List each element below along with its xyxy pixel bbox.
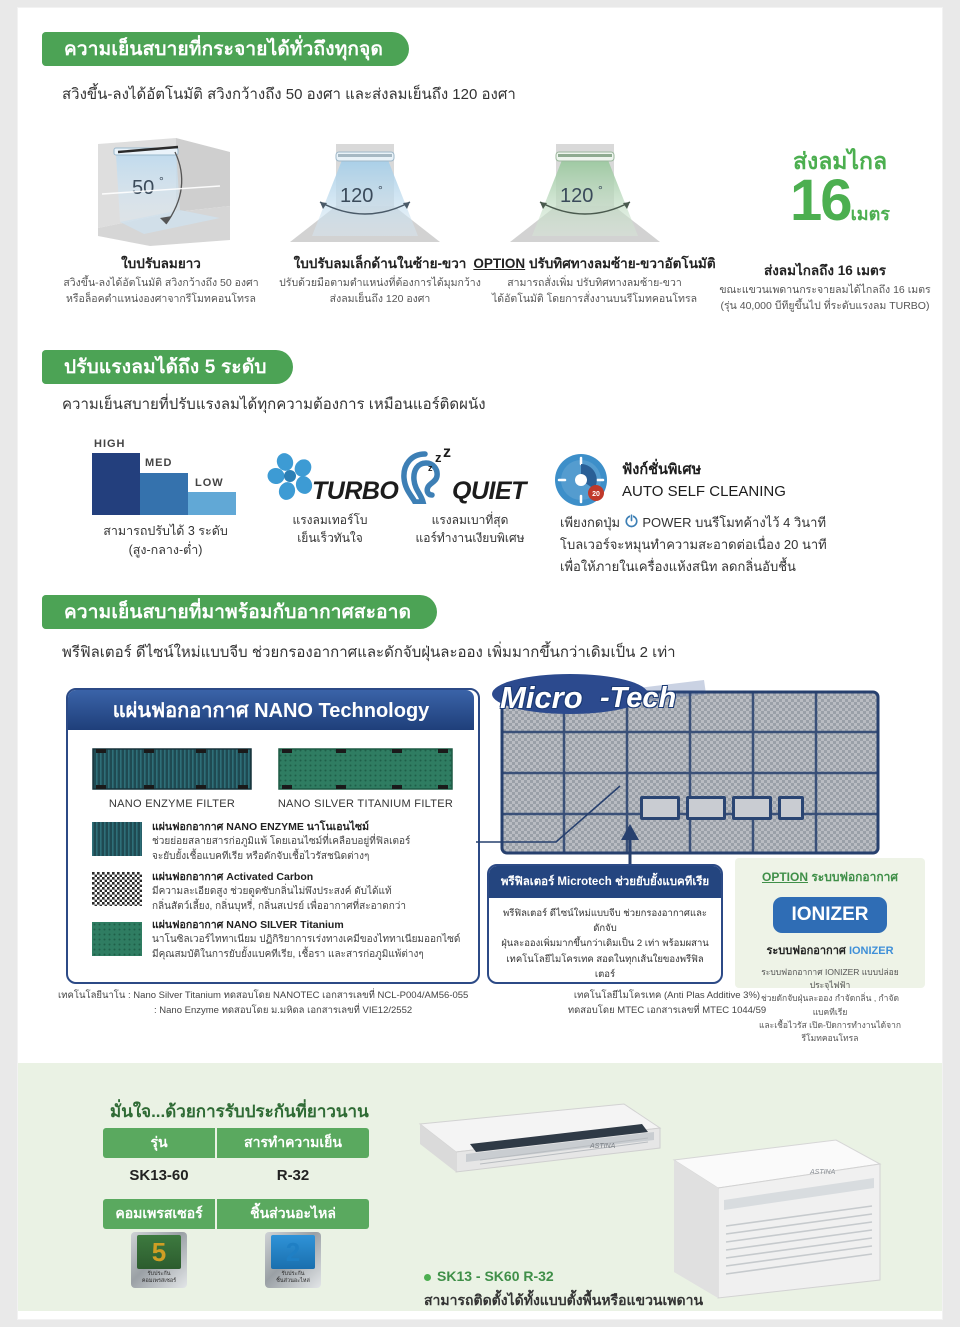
svg-text:120: 120 (340, 185, 373, 207)
ionizer-desc-1: ระบบฟอกอากาศ IONIZER แบบปล่อยประจุไฟฟ้า (761, 967, 899, 990)
ionizer-badge[interactable]: IONIZER (773, 897, 886, 933)
swatch-activated-carbon (92, 872, 142, 911)
table-divider (215, 1128, 217, 1258)
quiet-desc-2: แอร์ทำงานเงียบพิเศษ (416, 531, 525, 545)
footnote-right-1: เทคโนโลยีไมโครเทค (Anti Plas Additive 3%… (502, 988, 832, 1003)
table-header-model: รุ่น (103, 1128, 215, 1158)
panel-desc-1: ปรับด้วยมือตามตำแหน่งที่ต้องการได้มุมกว้… (279, 277, 481, 289)
svg-text:ASTINA: ASTINA (809, 1169, 836, 1176)
selfclean-title-th: ฟังก์ชั่นพิเศษ (622, 458, 786, 481)
microtech-callout-header: พรีฟิลเตอร์ Microtech ช่วยยับยั้งแบคทีเร… (489, 866, 721, 898)
bullet-dot-icon (424, 1274, 431, 1281)
section-header-airflow: ความเย็นสบายที่กระจายได้ทั่วถึงทุกจุด (42, 32, 409, 66)
fanspeed-subtitle: ความเย็นสบายที่ปรับแรงลมได้ทุกความต้องกา… (62, 392, 486, 416)
table-header-refrigerant: สารทำความเย็น (217, 1128, 369, 1158)
distance-number-row: 16เมตร (740, 173, 940, 228)
ionizer-desc-3: และเชื้อไวรัส เปิด-ปิดการทำงานได้จากรีโม… (759, 1020, 901, 1043)
ionizer-option-label: OPTION ระบบฟอกอากาศ (735, 858, 925, 887)
panel-desc-1: สามารถสั่งเพิ่ม ปรับทิศทางลมซ้าย-ขวา (507, 277, 682, 289)
chart-caption-2: (สูง-กลาง-ต่ำ) (58, 542, 273, 559)
panel-desc-1: สวิงขึ้น-ลงได้อัตโนมัติ สวิงกว้างถึง 50 … (63, 277, 258, 289)
distance-16m-block: ส่งลมไกล 16เมตร (740, 150, 940, 228)
bullet-line-2: กลิ่นสัตว์เลี้ยง, กลิ่นบุหรี่, กลิ่นสเปร… (152, 900, 462, 915)
callout-line-2: ฝุ่นละอองเพิ่มมากขึ้นกว่าเดิมเป็น 2 เท่า… (501, 938, 709, 949)
callout-arrow-up (600, 820, 660, 870)
bullet-nano-silver: แผ่นฟอกอากาศ NANO SILVER Titanium นาโนซิ… (152, 918, 472, 962)
svg-text:°: ° (159, 174, 164, 188)
selfclean-title-en: AUTO SELF CLEANING (622, 483, 786, 500)
ionizer-subtitle: ระบบฟอกอากาศ IONIZER (735, 941, 925, 959)
brochure-page: ความเย็นสบายที่กระจายได้ทั่วถึงทุกจุด สว… (0, 0, 960, 1327)
bar-high (92, 453, 140, 515)
power-icon (624, 513, 639, 534)
bar-label-high: HIGH (94, 438, 126, 450)
page-edge-left (0, 0, 18, 1327)
distance-number: 16 (790, 168, 851, 233)
bar-label-med: MED (145, 457, 172, 469)
badge-line-1: รับประกัน (148, 1271, 171, 1277)
bar-med (140, 473, 188, 515)
panel-desc-1: ขณะแขวนเพดานกระจายลมได้ไกลถึง 16 เมตร (719, 284, 930, 296)
table-value-refrigerant: R-32 (217, 1158, 369, 1192)
cleanair-subtitle: พรีฟิลเตอร์ ดีไซน์ใหม่แบบจีบ ช่วยกรองอาก… (62, 640, 676, 664)
badge-line-2: ชิ้นส่วนอะไหล่ (276, 1278, 310, 1284)
badge-line-1: รับประกัน (282, 1271, 305, 1277)
illustration-vane-120-green: 120 ° (510, 140, 660, 253)
quiet-caption: แรงลมเบาที่สุด แอร์ทำงานเงียบพิเศษ (385, 508, 555, 547)
badge-line-2: คอมเพรสเซอร์ (142, 1278, 176, 1284)
bar-low (188, 492, 236, 515)
bullet-line-2: จะยับยั้งเชื้อแบคทีเรีย หรือดักจับเชื้อไ… (152, 850, 452, 865)
turbo-desc-1: แรงลมเทอร์โบ (292, 513, 367, 527)
badge-year-number: 5 (152, 1239, 166, 1265)
svg-text:z: z (428, 463, 433, 473)
panel-desc-2: ส่งลมเย็นถึง 120 องศา (330, 293, 431, 305)
panel-desc-2: หรือล็อคตำแหน่งองศาจากรีโมทคอนโทรล (66, 293, 256, 305)
swatch-nano-enzyme (92, 822, 142, 861)
page-edge-bottom (0, 1319, 960, 1327)
svg-text:ASTINA: ASTINA (589, 1143, 616, 1150)
option-underline: OPTION (762, 870, 808, 884)
panel-caption-swing-50: ใบปรับลมยาว สวิงขึ้น-ลงได้อัตโนมัติ สวิง… (36, 255, 286, 308)
filter-image-nano-silver (278, 748, 453, 795)
model-range-label: SK13 - SK60 R-32 (424, 1268, 554, 1284)
quiet-wordmark: QUIET (452, 477, 526, 506)
selfclean-line3: เพื่อให้ภายในเครื่องแห้งสนิท ลดกลิ่นอับช… (560, 556, 827, 577)
clock-badge-number: 20 (592, 491, 600, 498)
quiet-ear-icon: z z z (395, 448, 457, 509)
svg-text:120: 120 (560, 185, 593, 207)
footnote-right: เทคโนโลยีไมโครเทค (Anti Plas Additive 3%… (502, 988, 832, 1018)
clock-timer-icon: 20 (553, 452, 609, 513)
chart-caption-1: สามารถปรับได้ 3 ระดับ (58, 523, 273, 540)
panel-desc-2: (รุ่น 40,000 บีทียูขึ้นไป ที่ระดับแรงลม … (721, 300, 930, 312)
chart-caption: สามารถปรับได้ 3 ระดับ (สูง-กลาง-ต่ำ) (58, 523, 273, 559)
selfclean-line2: โบลเวอร์จะหมุนทำความสะอาดต่อเนื่อง 20 นา… (560, 534, 827, 555)
bullet-nano-enzyme: แผ่นฟอกอากาศ NANO ENZYME นาโนเอนไซม์ ช่ว… (152, 820, 452, 864)
bar-label-low: LOW (195, 477, 224, 489)
bullet-line-2: มีคุณสมบัติในการยับยั้งแบคทีเรีย, เชื้อร… (152, 948, 472, 963)
bullet-line-1: ช่วยย่อยสลายสารก่อภูมิแพ้ โดยเอนไซม์ที่เ… (152, 835, 452, 850)
illustration-vane-120-blue: 120 ° (290, 140, 440, 253)
selfclean-line1b: POWER บนรีโมทค้างไว้ 4 วินาที (642, 515, 826, 530)
footnote-right-2: ทดสอบโดย MTEC เอกสารเลขที่ MTEC 1044/59 (502, 1003, 832, 1018)
illustration-swing-50: 50 ° (80, 136, 240, 251)
selfclean-line1a: เพียงกดปุ่ม (560, 515, 620, 530)
distance-unit: เมตร (851, 204, 890, 224)
footnote-left: เทคโนโลยีนาโน : Nano Silver Titanium ทดส… (58, 988, 468, 1018)
svg-text:°: ° (378, 183, 383, 197)
panel-caption-option-auto: OPTION ปรับทิศทางลมซ้าย-ขวาอัตโนมัติ สาม… (462, 255, 727, 308)
quiet-desc-1: แรงลมเบาที่สุด (432, 513, 509, 527)
option-underline: OPTION (473, 256, 525, 271)
svg-text:z: z (435, 450, 442, 465)
warranty-title: มั่นใจ...ด้วยการรับประกันที่ยาวนาน (110, 1098, 369, 1125)
callout-line-3: เทคโนโลยีไมโครเทค สอดในทุกเส้นใยของพรีฟิ… (506, 954, 703, 980)
bullet-title: แผ่นฟอกอากาศ NANO ENZYME นาโนเอนไซม์ (152, 820, 452, 835)
page-edge-right (942, 0, 960, 1327)
svg-text:z: z (443, 448, 451, 461)
selfclean-instructions: เพียงกดปุ่ม POWER บนรีโมทค้างไว้ 4 วินาท… (560, 512, 827, 577)
filter-image-nano-enzyme (92, 748, 252, 795)
warranty-badge-spareparts: 2 รับประกัน ชิ้นส่วนอะไหล่ (265, 1232, 321, 1288)
page-edge-top (0, 0, 960, 8)
turbo-desc-2: เย็นเร็วทันใจ (297, 531, 363, 545)
svg-text:50: 50 (132, 177, 154, 199)
microtech-logo-part1: Micro (500, 680, 583, 716)
turbo-wordmark: TURBO (312, 477, 398, 506)
model-install-note: สามารถติดตั้งได้ทั้งแบบตั้งพื้นหรือแขวนเ… (424, 1290, 703, 1312)
table-header-compressor: คอมเพรสเซอร์ (103, 1199, 215, 1229)
nano-panel-header: แผ่นฟอกอากาศ NANO Technology (68, 690, 474, 730)
bullet-title: แผ่นฟอกอากาศ NANO SILVER Titanium (152, 918, 472, 933)
turbo-icon (265, 452, 319, 507)
panel-desc-2: ได้อัตโนมัติ โดยการสั่งงานบนรีโมทคอนโทรล (492, 293, 697, 305)
svg-text:°: ° (598, 183, 603, 197)
ionizer-option-box: OPTION ระบบฟอกอากาศ IONIZER ระบบฟอกอากาศ… (735, 858, 925, 988)
table-value-model: SK13-60 (103, 1158, 215, 1192)
microtech-callout-body: พรีฟิลเตอร์ ดีไซน์ใหม่แบบจีบ ช่วยกรองอาก… (489, 898, 721, 984)
product-photo-floor-unit: ASTINA (660, 1130, 890, 1305)
bullet-activated-carbon: แผ่นฟอกอากาศ Activated Carbon มีความละเอ… (152, 870, 462, 914)
badge-year-number: 2 (286, 1239, 300, 1265)
airflow-subtitle: สวิงขึ้น-ลงได้อัตโนมัติ สวิงกว้างถึง 50 … (62, 82, 516, 106)
bullet-title: แผ่นฟอกอากาศ Activated Carbon (152, 870, 462, 885)
footnote-left-1: เทคโนโลยีนาโน : Nano Silver Titanium ทดส… (58, 988, 468, 1003)
swatch-nano-silver (92, 922, 142, 961)
selfclean-titles: ฟังก์ชั่นพิเศษ AUTO SELF CLEANING (622, 458, 786, 500)
filter-caption-enzyme: NANO ENZYME FILTER (72, 798, 272, 810)
table-header-spareparts: ชิ้นส่วนอะไหล่ (217, 1199, 369, 1229)
bullet-line-1: นาโนซิลเวอร์ไททาเนียม ปฏิกิริยาการเร่งทา… (152, 933, 472, 948)
bullet-line-1: มีความละเอียดสูง ช่วยดูดซับกลิ่นไม่พึงปร… (152, 885, 462, 900)
filter-caption-silver: NANO SILVER TITANIUM FILTER (268, 798, 463, 810)
microtech-logo-part2: -Tech (600, 682, 676, 715)
section-header-fanspeed: ปรับแรงลมได้ถึง 5 ระดับ (42, 350, 293, 384)
panel-caption-distance: ส่งลมไกลถึง 16 เมตร ขณะแขวนเพดานกระจายลม… (700, 262, 950, 315)
turbo-caption: แรงลมเทอร์โบ เย็นเร็วทันใจ (255, 508, 405, 547)
warranty-badge-compressor: 5 รับประกัน คอมเพรสเซอร์ (131, 1232, 187, 1288)
microtech-callout: พรีฟิลเตอร์ Microtech ช่วยยับยั้งแบคทีเร… (487, 864, 723, 984)
section-header-cleanair: ความเย็นสบายที่มาพร้อมกับอากาศสะอาด (42, 595, 437, 629)
fan-speed-bar-chart: HIGH MED LOW (90, 440, 240, 515)
callout-line-1: พรีฟิลเตอร์ ดีไซน์ใหม่แบบจีบ ช่วยกรองอาก… (503, 908, 707, 934)
footnote-left-2: : Nano Enzyme ทดสอบโดย ม.มหิดล เอกสารเลข… (58, 1003, 468, 1018)
product-photo-ceiling-unit: ASTINA (410, 1090, 670, 1205)
